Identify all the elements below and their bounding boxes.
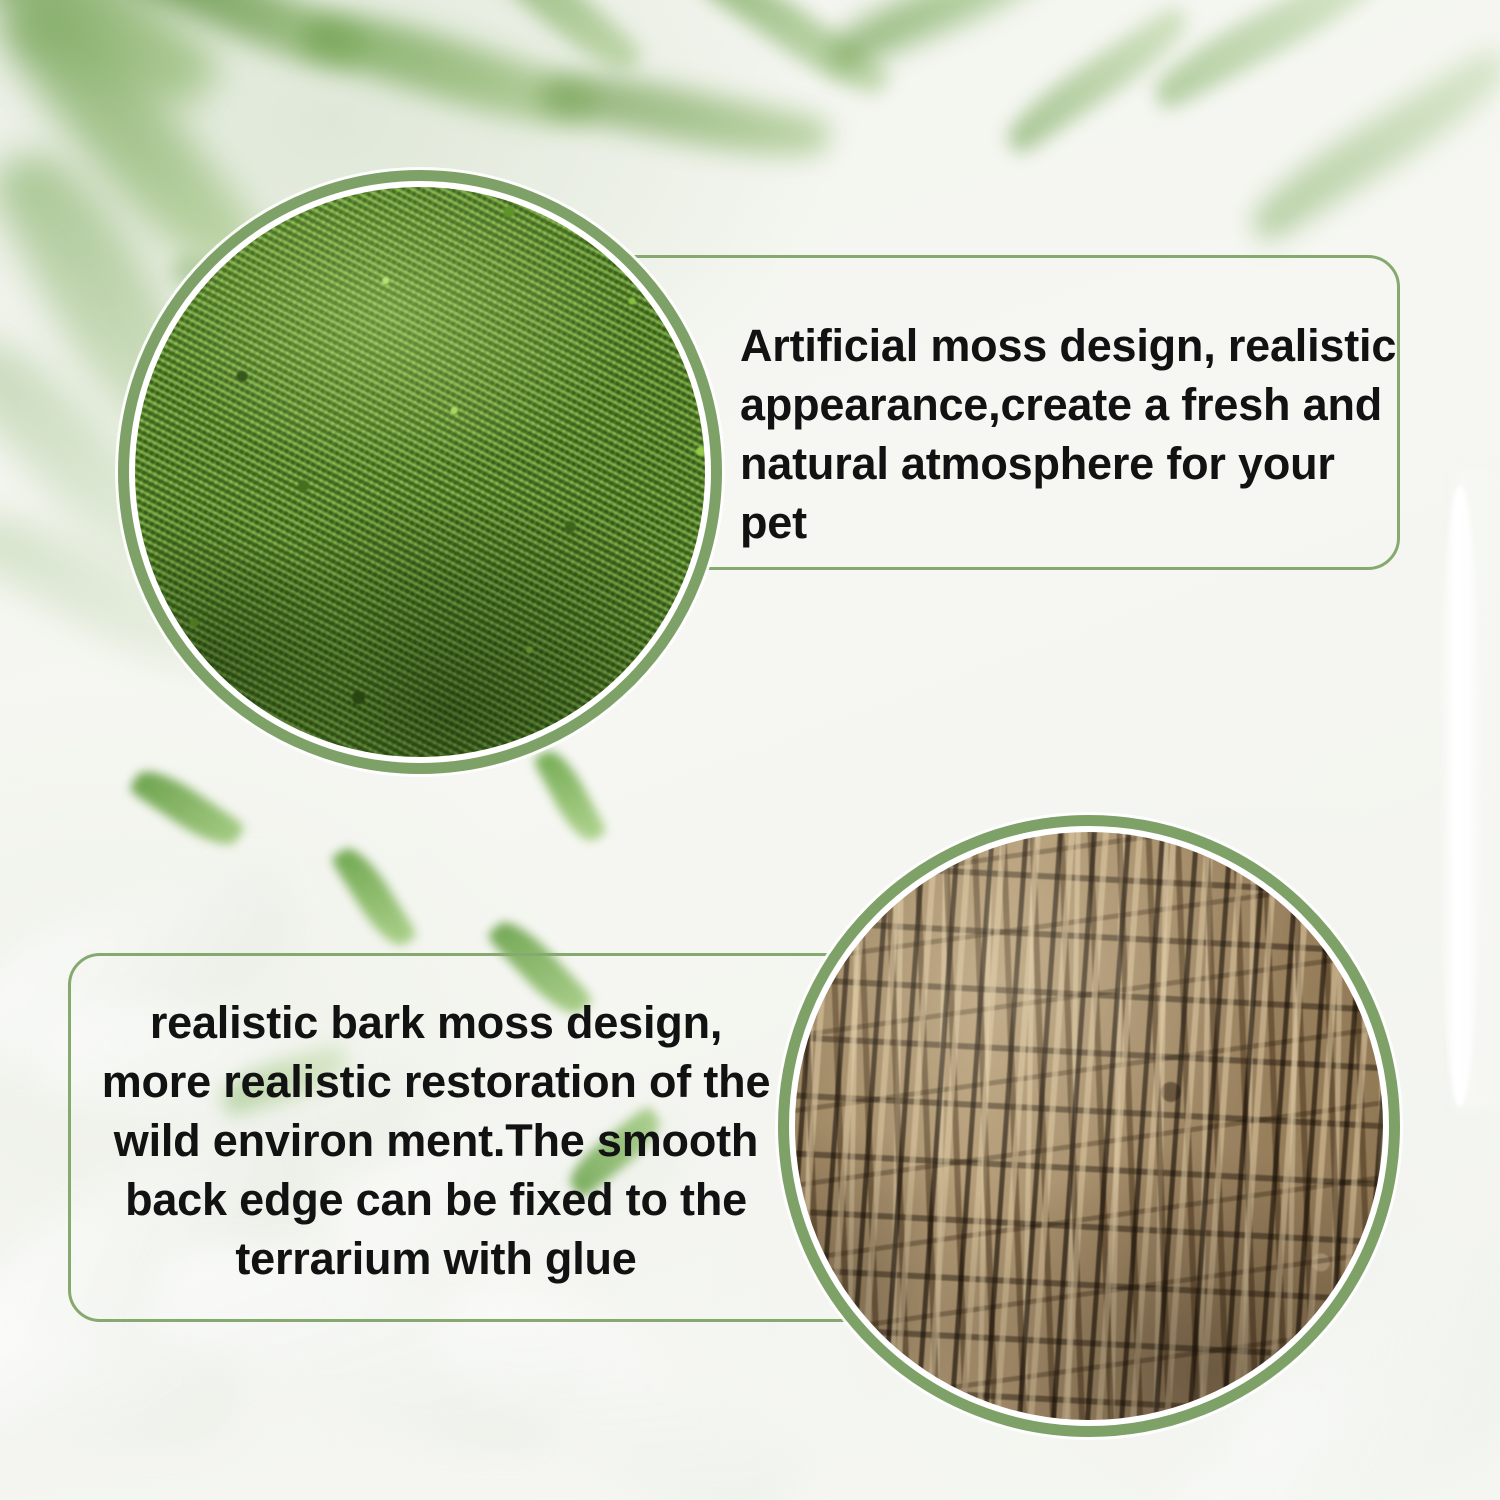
moss-image [135, 187, 705, 757]
bark-caption-line: terrarium with glue [86, 1229, 786, 1288]
bark-image [795, 832, 1383, 1420]
bark-shading-overlay [795, 832, 1383, 1420]
moss-caption: Artificial moss design, realistic appear… [740, 316, 1400, 552]
white-highlight-sliver [1438, 485, 1482, 1107]
moss-caption-line: appearance,create a fresh and [740, 375, 1400, 434]
moss-caption-line: natural atmosphere for your pet [740, 434, 1400, 552]
moss-shading-overlay [135, 187, 705, 757]
infographic-canvas: Artificial moss design, realistic appear… [0, 0, 1500, 1500]
bark-caption-line: realistic bark moss design, [86, 993, 786, 1052]
moss-image-circle[interactable] [118, 170, 722, 774]
bark-caption: realistic bark moss design, more realist… [86, 993, 786, 1288]
moss-caption-line: Artificial moss design, realistic [740, 316, 1400, 375]
bark-caption-line: more realistic restoration of the [86, 1052, 786, 1111]
bark-caption-line: wild environ ment.The smooth [86, 1111, 786, 1170]
bark-image-circle[interactable] [778, 815, 1400, 1437]
bark-caption-line: back edge can be fixed to the [86, 1170, 786, 1229]
